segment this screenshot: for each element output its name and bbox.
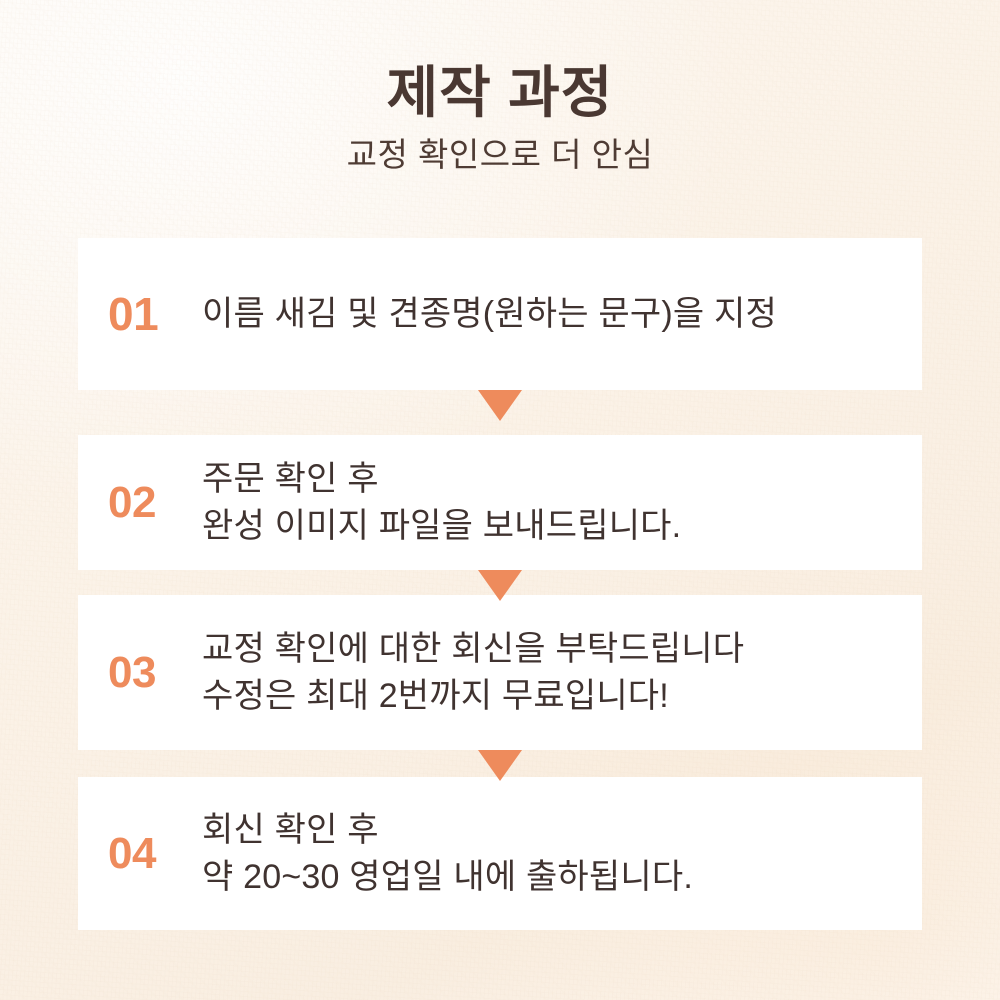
header: 제작 과정 교정 확인으로 더 안심 — [0, 64, 1000, 173]
step-text-line: 이름 새김 및 견종명(원하는 문구)을 지정 — [202, 291, 777, 338]
step-text-line: 주문 확인 후 — [202, 456, 681, 503]
page-subtitle: 교정 확인으로 더 안심 — [0, 137, 1000, 173]
step-card-01: 01 이름 새김 및 견종명(원하는 문구)을 지정 — [78, 238, 922, 390]
step-card-04: 04 회신 확인 후 약 20~30 영업일 내에 출하됩니다. — [78, 777, 922, 930]
step-number-01: 01 — [108, 291, 196, 337]
page-title: 제작 과정 — [0, 64, 1000, 123]
step-text-04: 회신 확인 후 약 20~30 영업일 내에 출하됩니다. — [196, 807, 693, 901]
arrow-down-icon-2 — [478, 570, 522, 601]
step-card-03: 03 교정 확인에 대한 회신을 부탁드립니다 수정은 최대 2번까지 무료입니… — [78, 595, 922, 750]
infographic-canvas: 제작 과정 교정 확인으로 더 안심 01 이름 새김 및 견종명(원하는 문구… — [0, 0, 1000, 1000]
step-text-line: 완성 이미지 파일을 보내드립니다. — [202, 503, 681, 550]
step-text-03: 교정 확인에 대한 회신을 부탁드립니다 수정은 최대 2번까지 무료입니다! — [196, 626, 744, 720]
step-text-line: 약 20~30 영업일 내에 출하됩니다. — [202, 854, 693, 901]
step-number-04: 04 — [108, 832, 196, 876]
arrow-down-icon-1 — [478, 390, 522, 421]
step-text-line: 교정 확인에 대한 회신을 부탁드립니다 — [202, 626, 744, 673]
step-card-02: 02 주문 확인 후 완성 이미지 파일을 보내드립니다. — [78, 435, 922, 570]
step-text-01: 이름 새김 및 견종명(원하는 문구)을 지정 — [196, 291, 777, 338]
step-text-line: 회신 확인 후 — [202, 807, 693, 854]
step-text-02: 주문 확인 후 완성 이미지 파일을 보내드립니다. — [196, 456, 681, 550]
step-text-line: 수정은 최대 2번까지 무료입니다! — [202, 673, 744, 720]
arrow-down-icon-3 — [478, 750, 522, 781]
step-number-02: 02 — [108, 481, 196, 525]
step-number-03: 03 — [108, 651, 196, 695]
